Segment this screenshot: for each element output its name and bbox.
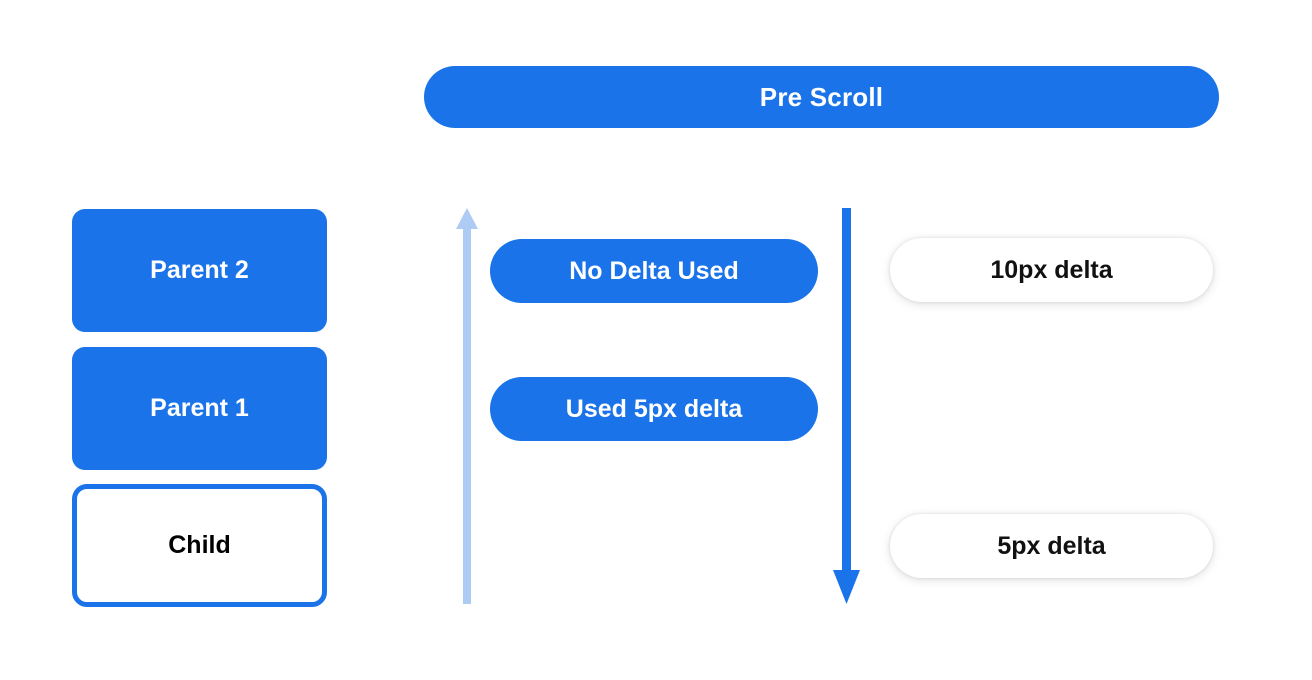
used-5px-delta-label: Used 5px delta (566, 397, 742, 422)
no-delta-used-pill: No Delta Used (490, 239, 818, 303)
ten-px-delta-label: 10px delta (990, 258, 1112, 283)
parent-1-label: Parent 1 (150, 396, 249, 421)
pre-scroll-banner-label: Pre Scroll (760, 84, 883, 110)
parent-2-label: Parent 2 (150, 258, 249, 283)
pre-scroll-banner: Pre Scroll (424, 66, 1219, 128)
child-box: Child (72, 484, 327, 607)
ten-px-delta-pill: 10px delta (890, 238, 1213, 302)
parent-2-box: Parent 2 (72, 209, 327, 332)
diagram-canvas: Pre Scroll Parent 2 Parent 1 Child No De… (0, 0, 1312, 680)
five-px-delta-label: 5px delta (997, 534, 1105, 559)
delta-consumed-up-arrow-icon (452, 208, 482, 604)
child-label: Child (168, 533, 231, 558)
five-px-delta-pill: 5px delta (890, 514, 1213, 578)
used-5px-delta-pill: Used 5px delta (490, 377, 818, 441)
scroll-propagation-down-arrow-icon (830, 208, 864, 604)
parent-1-box: Parent 1 (72, 347, 327, 470)
no-delta-used-label: No Delta Used (569, 259, 738, 284)
